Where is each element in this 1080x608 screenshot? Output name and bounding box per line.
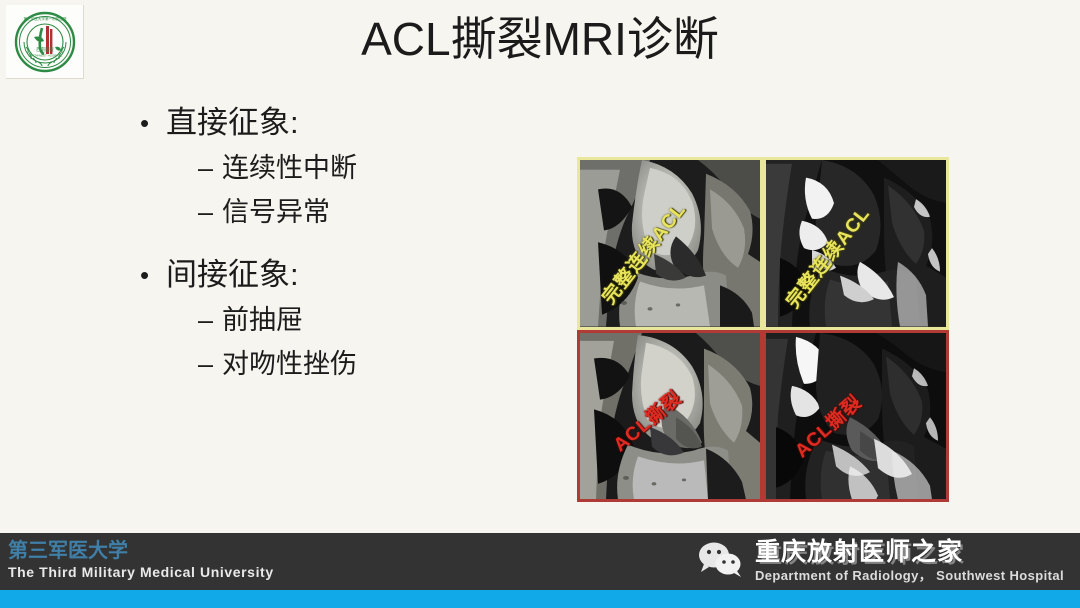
list-item-label: 连续性中断: [222, 153, 357, 183]
mri-panel-top-left: 完整连续ACL: [577, 157, 763, 330]
list-item: –信号异常: [140, 190, 540, 234]
footer-accent-strip: [0, 590, 1080, 608]
footer-university-branding: 第三军医大学 The Third Military Medical Univer…: [8, 539, 274, 581]
mri-scan-image: [580, 160, 760, 327]
bullet-heading: 直接征象:: [166, 100, 299, 146]
mri-scan-image: [766, 333, 946, 500]
mri-scan-image: [766, 160, 946, 327]
bullet-marker: •: [140, 100, 166, 146]
bullet-group-indirect: • 间接征象: –前抽屉 –对吻性挫伤: [140, 252, 540, 386]
footer-department-text: 重庆放射医师之家 重庆放射医师之家 Department of Radiolog…: [755, 537, 1064, 585]
slide-title: ACL撕裂MRI诊断: [0, 8, 1080, 70]
bullet-heading: 间接征象:: [166, 252, 299, 298]
bullet-list: • 直接征象: –连续性中断 –信号异常 • 间接征象: –前抽屉 –对吻性挫伤: [140, 100, 540, 404]
bullet-marker: •: [140, 252, 166, 298]
footer-department-name-cn-overlay: 重庆放射医师之家: [759, 539, 967, 569]
bullet-heading-row: • 间接征象:: [140, 252, 540, 298]
footer-department-name-en: Department of Radiology， Southwest Hospi…: [755, 567, 1064, 585]
dash-marker: –: [198, 342, 222, 386]
mri-panel-bottom-left: ACL撕裂: [577, 330, 763, 503]
wechat-icon: [695, 540, 745, 583]
list-item: –对吻性挫伤: [140, 342, 540, 386]
dash-marker: –: [198, 298, 222, 342]
list-item: –前抽屉: [140, 298, 540, 342]
presentation-slide: 西南医院 SOUTHWEST HOSPITAL 第三军医大学第一附属医院 ACL…: [0, 0, 1080, 608]
footer-department-branding: 重庆放射医师之家 重庆放射医师之家 Department of Radiolog…: [695, 537, 1064, 585]
mri-panel-bottom-right: ACL撕裂: [763, 330, 949, 503]
bullet-heading-row: • 直接征象:: [140, 100, 540, 146]
list-item: –连续性中断: [140, 146, 540, 190]
mri-scan-image: [580, 333, 760, 500]
mri-image-grid: 完整连续ACL: [577, 157, 949, 502]
dash-marker: –: [198, 146, 222, 190]
bullet-group-direct: • 直接征象: –连续性中断 –信号异常: [140, 100, 540, 234]
mri-panel-top-right: 完整连续ACL: [763, 157, 949, 330]
footer-department-name-cn: 重庆放射医师之家 重庆放射医师之家: [755, 538, 963, 566]
footer-university-name-en: The Third Military Medical University: [8, 563, 274, 581]
list-item-label: 信号异常: [222, 197, 330, 227]
slide-footer: 第三军医大学 The Third Military Medical Univer…: [0, 533, 1080, 608]
footer-university-name-cn: 第三军医大学: [8, 539, 274, 563]
list-item-label: 对吻性挫伤: [222, 349, 357, 379]
dash-marker: –: [198, 190, 222, 234]
list-item-label: 前抽屉: [222, 305, 303, 335]
